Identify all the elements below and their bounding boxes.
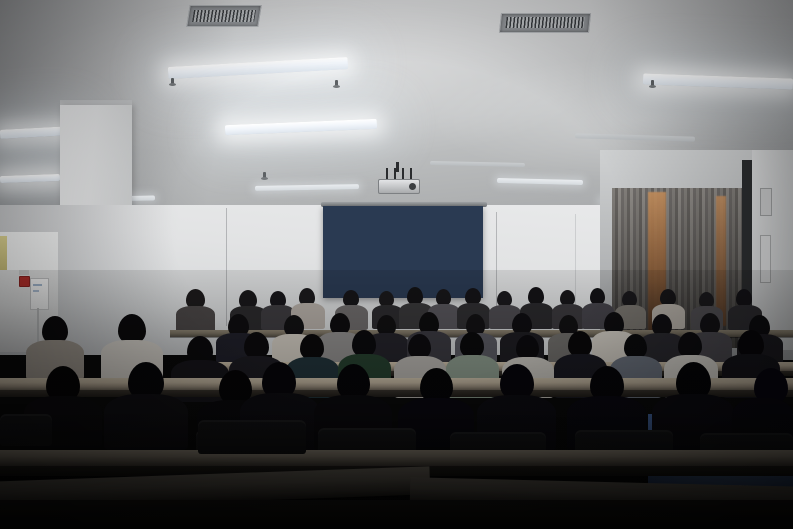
fire-sprinkler-head [650, 80, 655, 89]
audience-body [104, 394, 188, 450]
vent-slats [506, 17, 585, 28]
black-classroom-chair[interactable] [0, 414, 52, 446]
projector-body [378, 179, 420, 194]
fire-sprinkler-head [262, 172, 267, 181]
audience-area [0, 278, 793, 529]
audience-body [176, 306, 215, 332]
audience-head [352, 330, 376, 357]
black-classroom-chair[interactable] [198, 420, 306, 454]
fire-alarm-label [19, 270, 29, 275]
wall-mounted-device [760, 188, 772, 216]
vent-slats [192, 10, 256, 22]
ceiling-mounted-projector [374, 168, 422, 194]
desk-front-panel [0, 500, 793, 529]
air-conditioning-vent [186, 5, 261, 27]
wall-yellow-strip [0, 236, 7, 270]
fire-sprinkler-head [170, 78, 175, 87]
fire-sprinkler-head [334, 80, 339, 89]
lecture-hall-photo: 中国地质大学 严在学风 学在资源 资源学院2024年秋季学期学风建设系列活动 图… [0, 0, 793, 529]
long-student-desk [0, 450, 793, 466]
ceiling-shadow-left [0, 0, 300, 215]
long-student-desk [0, 378, 793, 390]
wall-mounted-device [760, 235, 771, 283]
audience-head [244, 332, 269, 359]
projector-lens [409, 183, 416, 190]
air-conditioning-vent [499, 13, 591, 33]
